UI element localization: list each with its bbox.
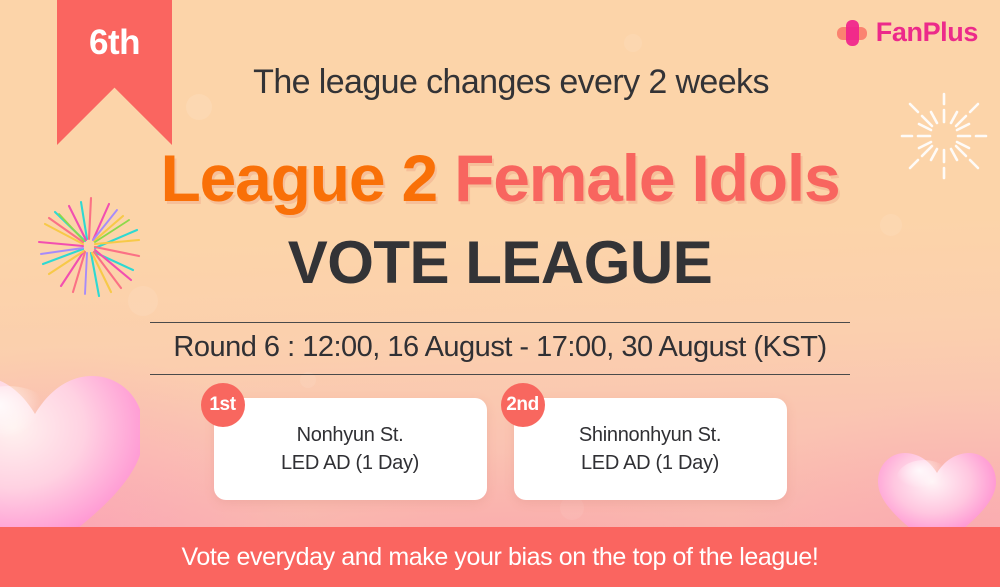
plus-mark-icon bbox=[837, 18, 867, 48]
prize-card-list: 1st Nonhyun St. LED AD (1 Day) 2nd Shinn… bbox=[0, 398, 1000, 500]
footer-bar: Vote everyday and make your bias on the … bbox=[0, 527, 1000, 587]
bokeh-dot bbox=[624, 34, 642, 52]
prize-card-2nd[interactable]: 2nd Shinnonhyun St. LED AD (1 Day) bbox=[514, 398, 787, 500]
prize-location: Shinnonhyun St. bbox=[579, 424, 721, 447]
prize-location: Nonhyun St. bbox=[297, 424, 404, 447]
rank-badge-1st: 1st bbox=[201, 383, 245, 427]
prize-card-1st[interactable]: 1st Nonhyun St. LED AD (1 Day) bbox=[214, 398, 487, 500]
promo-banner: 6th FanPlus The league changes every 2 w… bbox=[0, 0, 1000, 587]
logo-wordmark: FanPlus bbox=[876, 17, 978, 48]
page-subtitle-vote-league: VOTE LEAGUE bbox=[0, 228, 1000, 297]
footer-message: Vote everyday and make your bias on the … bbox=[182, 543, 819, 572]
title-league-part: League 2 bbox=[160, 141, 454, 215]
title-female-part: Female Idols bbox=[454, 141, 839, 215]
rank-badge-2nd: 2nd bbox=[501, 383, 545, 427]
schedule-text: Round 6 : 12:00, 16 August - 17:00, 30 A… bbox=[150, 331, 850, 364]
banner-subtitle: The league changes every 2 weeks bbox=[0, 63, 1000, 102]
fanplus-logo[interactable]: FanPlus bbox=[837, 17, 978, 48]
schedule-banner: Round 6 : 12:00, 16 August - 17:00, 30 A… bbox=[150, 322, 850, 375]
prize-detail: LED AD (1 Day) bbox=[581, 452, 719, 475]
prize-detail: LED AD (1 Day) bbox=[281, 452, 419, 475]
page-title: League 2 Female Idols bbox=[0, 140, 1000, 216]
